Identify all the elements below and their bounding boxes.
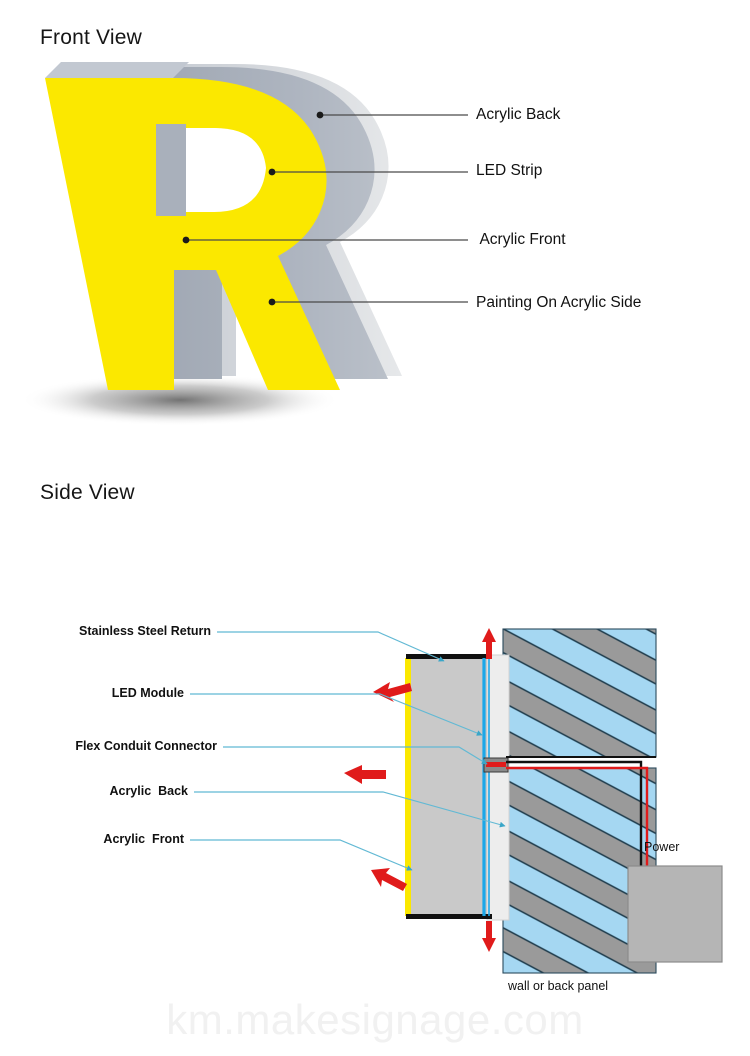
flex-conduit-connector-inner [486, 762, 506, 767]
front-label-acrylic-front: Acrylic Front [476, 231, 566, 249]
stainless-return-top [406, 654, 492, 659]
side-label-acrylic-back: Acrylic Back [0, 784, 188, 798]
diagram-artwork [0, 0, 750, 1056]
letter-r-graphic [45, 62, 402, 390]
letter-counter-edge [156, 124, 174, 216]
arrow-left-horizontal [344, 765, 386, 784]
site-watermark: km.makesignage.com [0, 996, 750, 1044]
wall-panel-upper [503, 629, 656, 757]
leader-dot-painting-side [269, 299, 276, 306]
front-label-led-strip: LED Strip [476, 162, 542, 180]
annotation-power: Power [644, 840, 679, 854]
side-label-led-module: LED Module [0, 686, 184, 700]
diagram-canvas: Front View Side View [0, 0, 750, 1056]
side-label-flex-conduit-connector: Flex Conduit Connector [0, 739, 217, 753]
acrylic-back-slab [487, 655, 509, 920]
annotation-wall-or-back-panel: wall or back panel [508, 979, 608, 993]
side-label-stainless-steel-return: Stainless Steel Return [0, 624, 211, 638]
letter-top-bevel [45, 62, 189, 78]
leader-acrylic-front [190, 840, 412, 870]
letter-body-return [409, 658, 487, 916]
leader-dot-acrylic-back [317, 112, 324, 119]
front-label-painting-on-acrylic-side: Painting On Acrylic Side [476, 294, 641, 312]
leader-dot-led-strip [269, 169, 276, 176]
acrylic-front-edge [405, 658, 411, 916]
stainless-return-bottom [406, 914, 492, 919]
side-label-acrylic-front: Acrylic Front [0, 832, 184, 846]
front-label-acrylic-back: Acrylic Back [476, 106, 560, 124]
arrow-down [482, 921, 496, 952]
arrow-left-tilted-down [371, 868, 407, 891]
leader-dot-acrylic-front [183, 237, 190, 244]
power-supply-box [628, 866, 722, 962]
